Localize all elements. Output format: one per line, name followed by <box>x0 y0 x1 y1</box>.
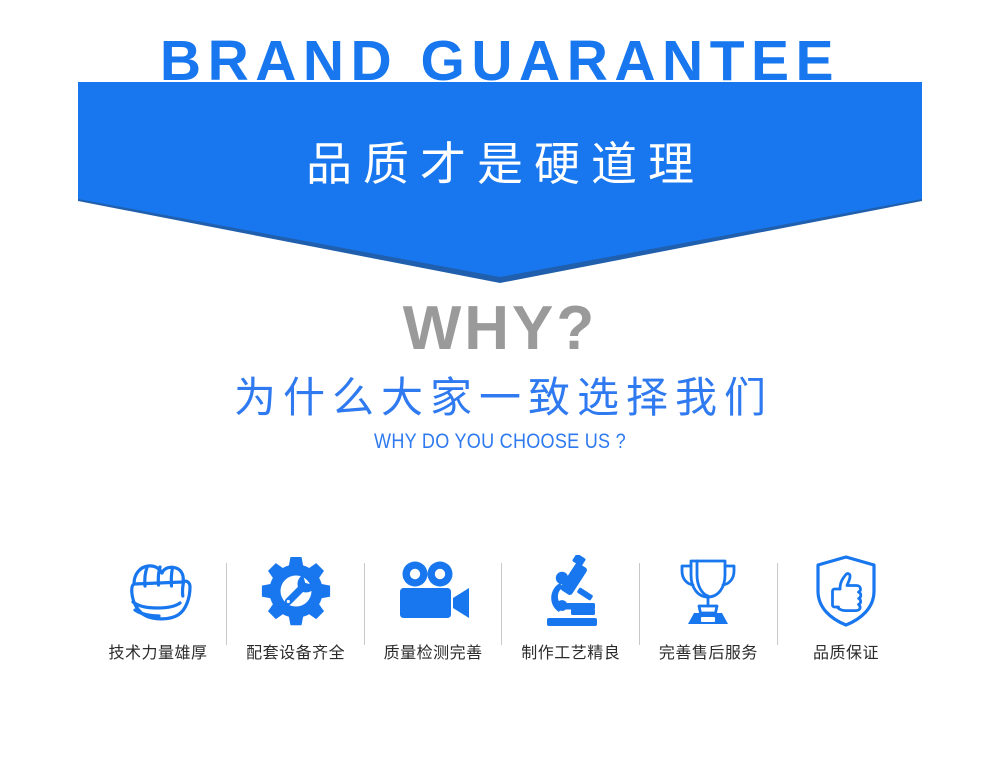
feature-divider <box>226 563 227 645</box>
feature-divider <box>639 563 640 645</box>
feature-item-quality-inspection: 质量检测完善 <box>371 552 495 663</box>
feature-label: 制作工艺精良 <box>521 639 620 663</box>
why-heading-cn: 为什么大家一致选择我们 <box>0 375 1000 421</box>
trophy-icon <box>672 552 744 630</box>
shield-thumb-icon <box>813 552 879 630</box>
hero-banner: BRAND GUARANTEE BRAND GUARANTEE 品质才是硬道理 <box>0 0 1000 290</box>
gear-wrench-icon <box>260 552 332 630</box>
fist-icon <box>120 552 196 630</box>
hero-slogan: 品质才是硬道理 <box>0 128 1000 194</box>
feature-label: 质量检测完善 <box>384 639 483 663</box>
why-section: WHY? 为什么大家一致选择我们 WHY DO YOU CHOOSE US ? <box>0 296 1000 454</box>
feature-item-craftsmanship: 制作工艺精良 <box>509 552 633 663</box>
feature-item-technical-strength: 技术力量雄厚 <box>96 552 220 663</box>
feature-divider <box>777 563 778 645</box>
feature-item-equipment: 配套设备齐全 <box>234 552 358 663</box>
microscope-icon <box>537 552 605 630</box>
why-subheading-en: WHY DO YOU CHOOSE US ? <box>70 430 930 454</box>
feature-divider <box>501 563 502 645</box>
feature-label: 完善售后服务 <box>659 639 758 663</box>
why-heading-en: WHY? <box>0 296 1000 361</box>
video-camera-icon <box>393 552 473 630</box>
feature-divider <box>364 563 365 645</box>
brand-guarantee-heading: BRAND GUARANTEE <box>0 33 1000 90</box>
feature-label: 品质保证 <box>813 639 879 663</box>
feature-row: 技术力量雄厚 配套设备齐全 质量检测完善 <box>96 552 908 663</box>
feature-label: 技术力量雄厚 <box>108 639 207 663</box>
feature-item-after-sales: 完善售后服务 <box>646 552 770 663</box>
feature-item-quality-assurance: 品质保证 <box>784 552 908 663</box>
feature-label: 配套设备齐全 <box>246 639 345 663</box>
